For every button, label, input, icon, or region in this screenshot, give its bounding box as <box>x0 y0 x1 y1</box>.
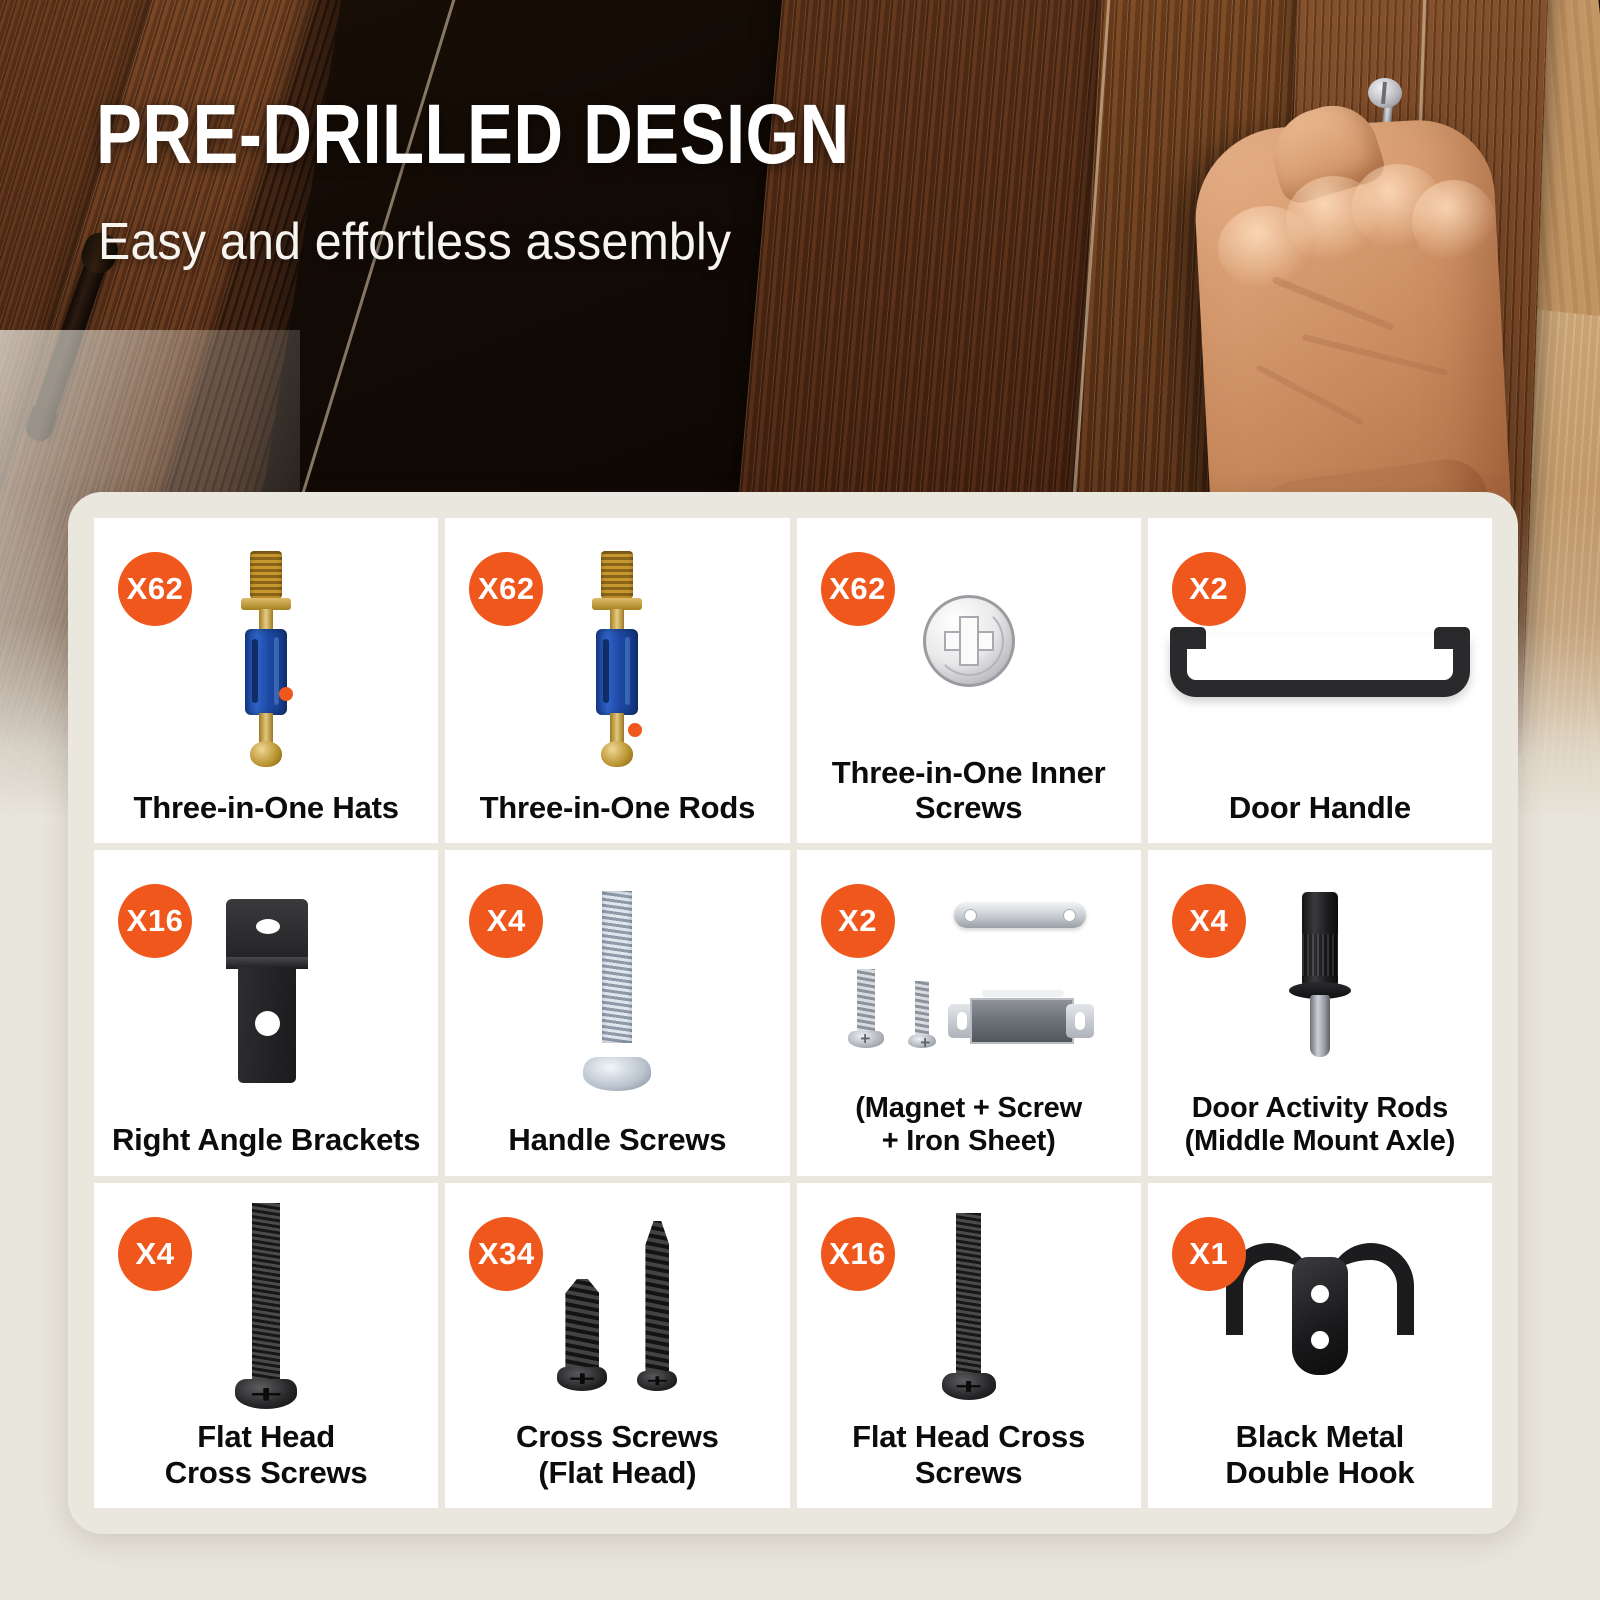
magnet-body-icon <box>948 994 1094 1048</box>
knuckle <box>1412 180 1496 264</box>
part-cell-handle-screws[interactable]: X4 Handle Screws <box>445 850 789 1175</box>
black-tapping-screws-icon <box>557 1221 677 1391</box>
part-cell-right-angle-brackets[interactable]: X16 Right Angle Brackets <box>94 850 438 1175</box>
tapping-screw-icon <box>908 981 936 1048</box>
short-tapping-screw-icon <box>557 1279 607 1391</box>
quantity-badge: X62 <box>469 552 543 626</box>
door-handle-icon <box>1170 613 1470 705</box>
quantity-badge: X2 <box>1172 552 1246 626</box>
part-label: Cross Screws (Flat Head) <box>516 1419 719 1496</box>
part-label: Three-in-One Hats <box>133 790 398 831</box>
part-cell-three-in-one-rods[interactable]: X62 Three-in-One Rods <box>445 518 789 843</box>
right-angle-bracket-icon <box>220 899 312 1083</box>
page-subtitle: Easy and effortless assembly <box>98 212 731 272</box>
black-machine-screw-icon <box>235 1203 297 1409</box>
part-cell-magnet-catch[interactable]: X2 <box>797 850 1141 1175</box>
machine-screw-icon <box>581 891 653 1091</box>
part-label: Three-in-One Inner Screws <box>832 755 1106 832</box>
parts-grid: X62 Three-in-One Hats X62 <box>94 518 1492 1508</box>
parts-list-panel: X62 Three-in-One Hats X62 <box>68 492 1518 1534</box>
black-machine-screw-icon <box>942 1213 996 1400</box>
part-cell-three-in-one-inner-screws[interactable]: X62 Three-in-One Inner Screws <box>797 518 1141 843</box>
quantity-badge: X4 <box>1172 884 1246 958</box>
part-cell-flat-head-cross-screws-16[interactable]: X16 Flat Head Cross Screws <box>797 1183 1141 1508</box>
page-title: PRE-DRILLED DESIGN <box>96 92 850 176</box>
part-label: Handle Screws <box>508 1122 726 1163</box>
part-label: Flat Head Cross Screws <box>852 1419 1085 1496</box>
long-tapping-screw-icon <box>637 1221 677 1391</box>
part-label: Three-in-One Rods <box>480 790 756 831</box>
door-activity-rod-icon <box>1285 892 1355 1060</box>
infographic-stage: PRE-DRILLED DESIGN Easy and effortless a… <box>0 0 1600 1600</box>
part-label: Right Angle Brackets <box>112 1122 420 1163</box>
cam-disc-icon <box>923 595 1015 687</box>
quantity-badge: X4 <box>118 1217 192 1291</box>
cam-bolt-hat-icon <box>229 551 303 767</box>
quantity-badge: X16 <box>118 884 192 958</box>
part-label: Door Handle <box>1229 790 1411 831</box>
iron-sheet-icon <box>954 902 1086 928</box>
part-label: (Magnet + Screw + Iron Sheet) <box>855 1092 1082 1164</box>
part-cell-black-metal-double-hook[interactable]: X1 Black Metal Double Hook <box>1148 1183 1492 1508</box>
part-label: Black Metal Double Hook <box>1225 1419 1414 1496</box>
part-cell-door-handle[interactable]: X2 Door Handle <box>1148 518 1492 843</box>
quantity-badge: X16 <box>821 1217 895 1291</box>
part-cell-cross-screws-flat-head[interactable]: X34 Cross Screws (Flat Head) <box>445 1183 789 1508</box>
cam-bolt-rod-icon <box>580 551 654 767</box>
quantity-badge: X62 <box>821 552 895 626</box>
quantity-badge: X34 <box>469 1217 543 1291</box>
quantity-badge: X1 <box>1172 1217 1246 1291</box>
part-cell-door-activity-rods[interactable]: X4 Door Activity Rods (Middle Mount Axle… <box>1148 850 1492 1175</box>
part-cell-flat-head-cross-screws[interactable]: X4 Flat Head Cross Screws <box>94 1183 438 1508</box>
part-label: Door Activity Rods (Middle Mount Axle) <box>1185 1092 1456 1164</box>
part-cell-three-in-one-hats[interactable]: X62 Three-in-One Hats <box>94 518 438 843</box>
part-label: Flat Head Cross Screws <box>165 1419 368 1496</box>
double-hook-icon <box>1220 1231 1420 1381</box>
quantity-badge: X2 <box>821 884 895 958</box>
quantity-badge: X62 <box>118 552 192 626</box>
tapping-screw-icon <box>848 969 884 1048</box>
